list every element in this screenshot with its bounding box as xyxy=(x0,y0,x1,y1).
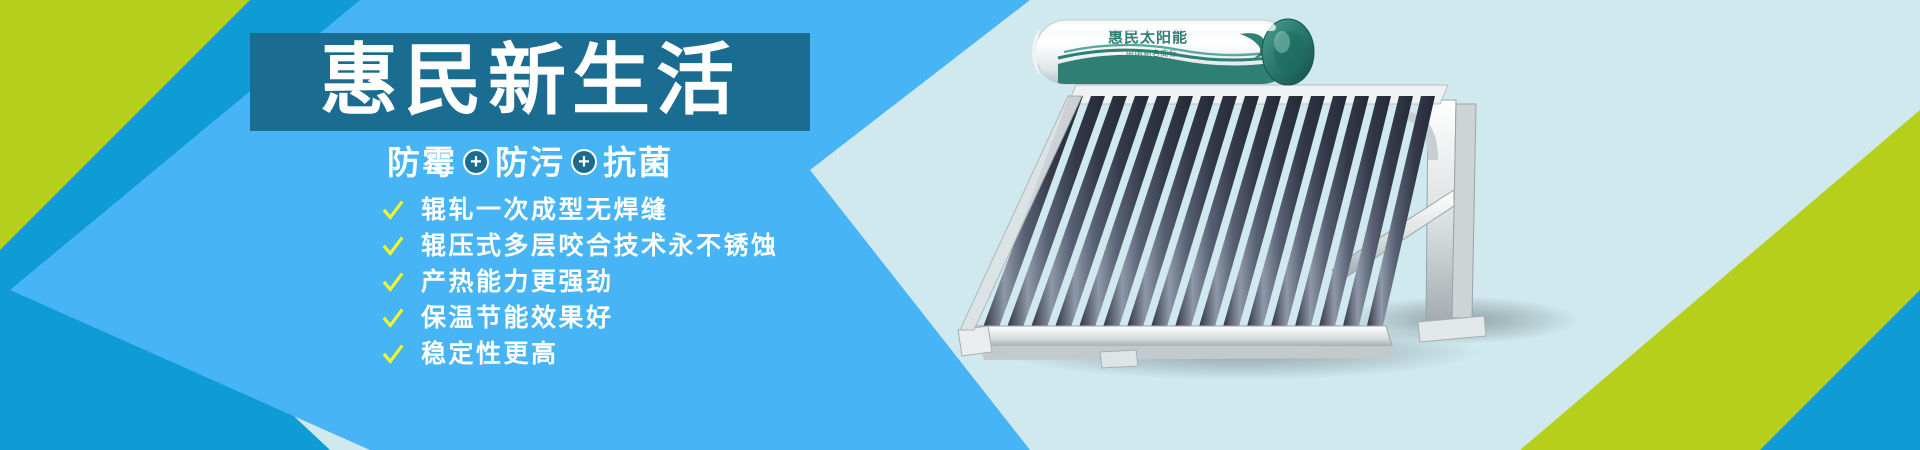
feature-item: 保温节能效果好 xyxy=(382,303,779,334)
subtitle-word-1: 防霉 xyxy=(387,146,457,179)
panel-bottom-rail xyxy=(974,326,1392,348)
subtitle-word-2: 防污 xyxy=(495,146,565,179)
feature-item: 辊压式多层咬合技术永不锈蚀 xyxy=(382,231,779,262)
panel-bottom-edge xyxy=(980,346,1392,360)
feature-label: 产热能力更强劲 xyxy=(421,270,614,295)
vacuum-tube-array xyxy=(982,96,1435,330)
tank-sub-text: 中国驰名商标 xyxy=(1126,48,1178,58)
feature-list: 辊轧一次成型无焊缝 辊压式多层咬合技术永不锈蚀 产热能力更强劲 保温节能效果好 xyxy=(382,195,779,370)
tank-highlight xyxy=(1052,24,1276,31)
page-title: 惠民新生活 xyxy=(320,41,740,119)
subtitle-row: 防霉 + 防污 + 抗菌 xyxy=(250,140,810,184)
feature-label: 保温节能效果好 xyxy=(421,306,614,331)
front-foot-right xyxy=(1100,350,1138,368)
solar-water-heater-image: 惠民太阳能 中国驰名商标 xyxy=(940,0,1600,450)
tank-end-cap-highlight xyxy=(1274,31,1290,53)
plus-icon: + xyxy=(571,149,597,175)
feature-label: 辊压式多层咬合技术永不锈蚀 xyxy=(421,234,779,259)
storage-tank: 惠民太阳能 中国驰名商标 xyxy=(1032,19,1314,85)
feature-label: 稳定性更高 xyxy=(421,342,559,367)
collector-panel xyxy=(958,85,1448,368)
check-icon xyxy=(382,272,404,294)
check-icon xyxy=(382,308,404,330)
check-icon xyxy=(382,236,404,258)
feature-item: 产热能力更强劲 xyxy=(382,267,779,298)
subtitle-word-3: 抗菌 xyxy=(603,146,673,179)
feature-item: 辊轧一次成型无焊缝 xyxy=(382,195,779,226)
feature-item: 稳定性更高 xyxy=(382,339,779,370)
check-icon xyxy=(382,344,404,366)
title-block: 惠民新生活 xyxy=(250,33,810,131)
plus-icon: + xyxy=(463,149,489,175)
feature-label: 辊轧一次成型无焊缝 xyxy=(421,198,669,223)
rear-post-2 xyxy=(1452,104,1476,318)
promo-banner: 惠民新生活 防霉 + 防污 + 抗菌 辊轧一次成型无焊缝 辊压式多层咬合技术永不… xyxy=(0,0,1920,450)
check-icon xyxy=(382,200,404,222)
